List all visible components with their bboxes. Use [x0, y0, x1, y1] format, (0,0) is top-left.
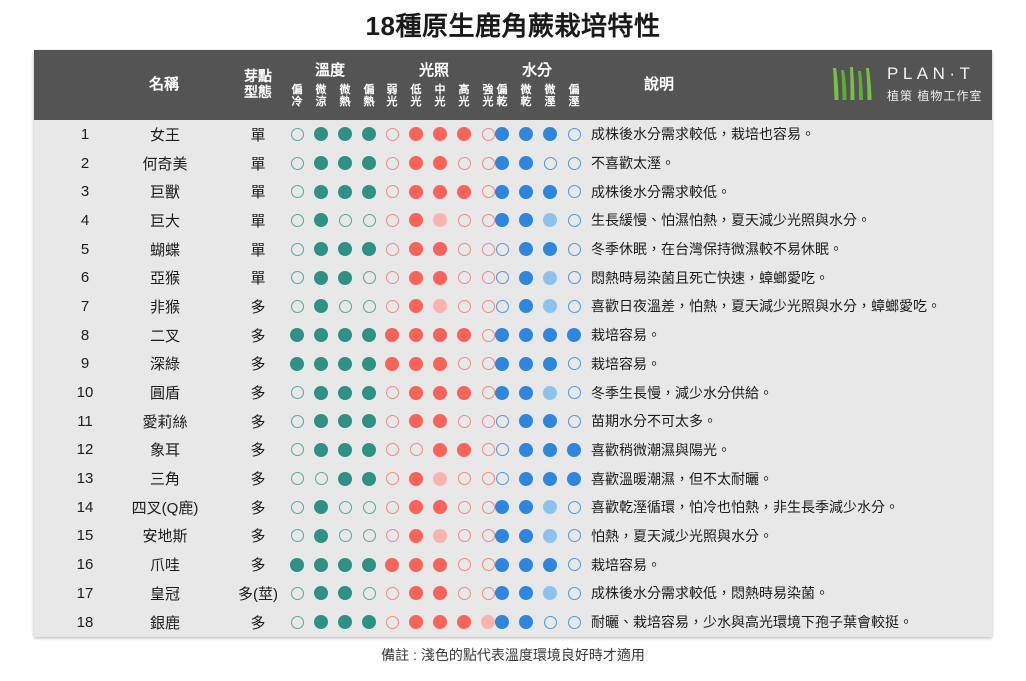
row-name: 巨大: [106, 206, 224, 235]
dot-slot-light-0: [380, 529, 404, 542]
dot-temp-full: [314, 156, 328, 170]
dot-slot-temp-3: [357, 242, 381, 256]
dot-light-empty: [410, 443, 423, 456]
sublabel-line-1: 中: [428, 85, 452, 97]
dot-water-full: [519, 299, 533, 313]
row-name: 蝴蝶: [106, 235, 224, 264]
dot-light-pale: [433, 472, 447, 486]
dot-temp-full: [362, 357, 376, 371]
dot-slot-water-0: [490, 586, 514, 600]
dot-slot-temp-3: [357, 328, 381, 342]
row-bud-type: 單: [226, 235, 290, 264]
dot-slot-light-1: [404, 386, 428, 400]
row-index: 2: [70, 149, 100, 178]
dot-slot-water-3: [562, 415, 586, 428]
dot-slot-light-3: [452, 185, 476, 199]
dot-slot-light-0: [380, 558, 404, 572]
dot-slot-light-0: [380, 443, 404, 456]
dot-slot-light-2: [428, 357, 452, 371]
dot-temp-empty: [315, 472, 328, 485]
dot-group-temp: [285, 120, 381, 149]
dot-water-full: [495, 156, 509, 170]
dot-slot-water-1: [514, 529, 538, 543]
sublabels-light: 弱光低光中光高光強光: [380, 85, 500, 108]
dot-slot-water-1: [514, 299, 538, 313]
dot-slot-temp-0: [285, 501, 309, 514]
row-bud-type: 多(莖): [226, 579, 290, 608]
dot-water-pale: [543, 529, 557, 543]
dot-slot-light-1: [404, 443, 428, 456]
dot-slot-temp-1: [309, 328, 333, 342]
row-description: 悶熱時易染菌且死亡快速，蟑螂愛吃。: [591, 263, 991, 292]
row-description: 成株後水分需求較低。: [591, 177, 991, 206]
dot-temp-empty: [291, 443, 304, 456]
dot-slot-temp-2: [333, 414, 357, 428]
dot-slot-water-3: [562, 214, 586, 227]
dot-water-empty: [568, 558, 581, 571]
dot-group-temp: [285, 263, 381, 292]
dot-slot-water-1: [514, 185, 538, 199]
column-header-description: 說明: [594, 76, 724, 93]
dot-water-full: [543, 127, 557, 141]
dot-slot-water-2: [538, 443, 562, 457]
table-row: 18銀鹿多耐曬、栽培容易，少水與高光環境下孢子葉會較挺。: [34, 608, 992, 637]
row-description: 冬季休眠，在台灣保持微濕較不易休眠。: [591, 235, 991, 264]
dot-water-empty: [568, 185, 581, 198]
dot-water-pale: [543, 386, 557, 400]
dot-light-full: [433, 271, 447, 285]
dot-slot-temp-3: [357, 156, 381, 170]
dot-slot-light-2: [428, 414, 452, 428]
row-description: 栽培容易。: [591, 321, 991, 350]
dot-temp-empty: [291, 616, 304, 629]
dot-slot-temp-2: [333, 529, 357, 542]
dot-slot-temp-1: [309, 500, 333, 514]
row-index: 13: [70, 464, 100, 493]
row-index: 17: [70, 579, 100, 608]
dot-temp-full: [314, 271, 328, 285]
row-index: 15: [70, 522, 100, 551]
dot-temp-empty: [291, 587, 304, 600]
dot-temp-full: [314, 414, 328, 428]
dot-light-full: [457, 443, 471, 457]
dot-temp-full: [314, 558, 328, 572]
dot-light-full: [457, 386, 471, 400]
dot-group-water: [490, 493, 586, 522]
dot-temp-full: [338, 472, 352, 486]
dot-water-empty: [568, 300, 581, 313]
dot-water-full: [519, 414, 533, 428]
dot-light-empty: [458, 243, 471, 256]
row-bud-type: 多: [226, 350, 290, 379]
dot-slot-temp-0: [285, 357, 309, 371]
dot-light-full: [433, 242, 447, 256]
table-row: 13三角多喜歡溫暖潮濕，但不太耐曬。: [34, 464, 992, 493]
dot-light-empty: [458, 415, 471, 428]
dot-slot-water-1: [514, 156, 538, 170]
dot-group-temp: [285, 579, 381, 608]
dot-group-water: [490, 263, 586, 292]
dot-slot-water-2: [538, 616, 562, 629]
dot-slot-water-1: [514, 586, 538, 600]
dot-temp-full: [338, 127, 352, 141]
dot-water-full: [543, 357, 557, 371]
dot-water-full: [567, 328, 581, 342]
dot-temp-empty: [363, 587, 376, 600]
dot-slot-light-0: [380, 472, 404, 485]
dot-light-full: [409, 242, 423, 256]
dot-slot-water-2: [538, 529, 562, 543]
sublabels-temperature: 偏冷微涼微熱偏熱: [285, 85, 381, 108]
dot-slot-water-1: [514, 357, 538, 371]
dot-group-temp: [285, 522, 381, 551]
dot-light-full: [433, 357, 447, 371]
dot-slot-light-3: [452, 127, 476, 141]
dot-group-water: [490, 120, 586, 149]
dot-light-full: [409, 299, 423, 313]
dot-slot-temp-1: [309, 472, 333, 485]
dot-group-light: [380, 579, 500, 608]
dot-slot-water-0: [490, 328, 514, 342]
table-row: 2何奇美單不喜歡太溼。: [34, 149, 992, 178]
dot-water-full: [567, 443, 581, 457]
dot-water-empty: [544, 157, 557, 170]
row-index: 12: [70, 436, 100, 465]
dot-water-full: [495, 213, 509, 227]
dot-temp-full: [314, 127, 328, 141]
dot-water-full: [495, 615, 509, 629]
sublabel-line-2: 熱: [333, 97, 357, 109]
dot-temp-empty: [291, 157, 304, 170]
dot-light-full: [433, 414, 447, 428]
dot-water-full: [543, 414, 557, 428]
dot-slot-light-1: [404, 558, 428, 572]
sublabel-temperature-3: 偏熱: [357, 85, 381, 108]
dot-light-full: [385, 357, 399, 371]
dot-slot-temp-3: [357, 558, 381, 572]
dot-slot-temp-0: [285, 558, 309, 572]
dot-water-empty: [568, 386, 581, 399]
brand-name: PLAN·T: [887, 64, 982, 84]
dot-water-full: [495, 185, 509, 199]
sublabel-line-2: 光: [428, 97, 452, 109]
dot-slot-light-2: [428, 443, 452, 457]
dot-slot-light-3: [452, 558, 476, 571]
dot-slot-water-0: [490, 558, 514, 572]
dot-group-water: [490, 378, 586, 407]
row-index: 5: [70, 235, 100, 264]
dot-light-empty: [386, 185, 399, 198]
row-name: 二叉: [106, 321, 224, 350]
dot-temp-full: [314, 213, 328, 227]
dot-slot-temp-3: [357, 214, 381, 227]
dot-temp-full: [338, 443, 352, 457]
dot-slot-light-1: [404, 357, 428, 371]
dot-light-full: [385, 558, 399, 572]
dot-light-empty: [386, 443, 399, 456]
dot-slot-temp-1: [309, 185, 333, 199]
dot-group-water: [490, 321, 586, 350]
table-row: 3巨獸單成株後水分需求較低。: [34, 177, 992, 206]
dot-light-empty: [386, 587, 399, 600]
dot-light-empty: [386, 243, 399, 256]
row-name: 愛莉絲: [106, 407, 224, 436]
dot-slot-water-1: [514, 213, 538, 227]
dot-slot-water-2: [538, 386, 562, 400]
dot-temp-empty: [291, 472, 304, 485]
dot-slot-temp-3: [357, 615, 381, 629]
bud-type-line-1: 芽點: [227, 68, 289, 84]
row-name: 亞猴: [106, 263, 224, 292]
dot-slot-water-1: [514, 242, 538, 256]
dot-slot-light-2: [428, 529, 452, 543]
dot-temp-full: [314, 586, 328, 600]
dot-slot-light-1: [404, 242, 428, 256]
dot-group-temp: [285, 464, 381, 493]
dot-light-full: [409, 472, 423, 486]
row-bud-type: 多: [226, 522, 290, 551]
row-index: 9: [70, 350, 100, 379]
dot-water-full: [519, 615, 533, 629]
dot-slot-water-1: [514, 127, 538, 141]
dot-light-full: [409, 414, 423, 428]
dot-slot-light-1: [404, 299, 428, 313]
dot-light-full: [433, 185, 447, 199]
dot-slot-light-3: [452, 415, 476, 428]
dot-group-water: [490, 608, 586, 637]
dot-slot-light-3: [452, 157, 476, 170]
dot-slot-water-2: [538, 328, 562, 342]
dot-light-empty: [458, 501, 471, 514]
dot-slot-temp-3: [357, 271, 381, 284]
dot-slot-temp-2: [333, 242, 357, 256]
dot-light-empty: [386, 271, 399, 284]
row-description: 栽培容易。: [591, 350, 991, 379]
dot-light-empty: [458, 558, 471, 571]
sublabel-line-2: 乾: [490, 97, 514, 109]
dot-group-temp: [285, 321, 381, 350]
dot-light-full: [409, 558, 423, 572]
sublabel-line-1: 低: [404, 85, 428, 97]
dot-light-full: [433, 386, 447, 400]
row-index: 4: [70, 206, 100, 235]
dot-temp-full: [338, 558, 352, 572]
dot-slot-temp-3: [357, 443, 381, 457]
row-description: 生長緩慢、怕濕怕熱，夏天減少光照與水分。: [591, 206, 991, 235]
dot-light-full: [457, 185, 471, 199]
row-description: 不喜歡太溼。: [591, 149, 991, 178]
row-bud-type: 多: [226, 464, 290, 493]
dot-temp-full: [314, 386, 328, 400]
dot-light-pale: [433, 529, 447, 543]
dot-water-full: [519, 386, 533, 400]
dot-slot-water-1: [514, 386, 538, 400]
dot-slot-water-0: [490, 213, 514, 227]
dot-temp-full: [362, 414, 376, 428]
dot-slot-water-0: [490, 357, 514, 371]
dot-water-full: [519, 558, 533, 572]
dot-temp-full: [338, 615, 352, 629]
row-index: 6: [70, 263, 100, 292]
dot-temp-full: [338, 242, 352, 256]
dot-slot-water-2: [538, 299, 562, 313]
row-name: 深綠: [106, 350, 224, 379]
dot-light-empty: [386, 501, 399, 514]
dot-water-full: [519, 271, 533, 285]
dot-slot-light-2: [428, 615, 452, 629]
dot-group-light: [380, 321, 500, 350]
row-bud-type: 多: [226, 378, 290, 407]
row-bud-type: 單: [226, 149, 290, 178]
dot-slot-light-2: [428, 586, 452, 600]
dot-slot-temp-3: [357, 127, 381, 141]
dot-water-full: [519, 127, 533, 141]
row-index: 18: [70, 608, 100, 637]
dot-water-full: [519, 213, 533, 227]
dot-group-light: [380, 292, 500, 321]
dot-slot-temp-0: [285, 386, 309, 399]
dot-group-light: [380, 177, 500, 206]
dot-light-empty: [458, 157, 471, 170]
dot-slot-water-2: [538, 586, 562, 600]
dot-slot-water-0: [490, 500, 514, 514]
dot-light-full: [433, 127, 447, 141]
dot-light-full: [409, 271, 423, 285]
dot-temp-full: [362, 127, 376, 141]
dot-water-pale: [543, 500, 557, 514]
dot-slot-temp-0: [285, 328, 309, 342]
dot-group-light: [380, 378, 500, 407]
table-body: 1女王單成株後水分需求較低，栽培也容易。2何奇美單不喜歡太溼。3巨獸單成株後水分…: [34, 120, 992, 636]
dot-slot-light-0: [380, 357, 404, 371]
table-row: 6亞猴單悶熱時易染菌且死亡快速，蟑螂愛吃。: [34, 263, 992, 292]
bud-type-line-2: 型態: [227, 84, 289, 100]
dot-water-full: [495, 328, 509, 342]
dot-slot-temp-1: [309, 127, 333, 141]
dot-slot-light-2: [428, 558, 452, 572]
dot-slot-water-3: [562, 300, 586, 313]
dot-water-empty: [496, 243, 509, 256]
dot-slot-light-2: [428, 299, 452, 313]
dot-slot-light-0: [380, 214, 404, 227]
dot-group-light: [380, 493, 500, 522]
dot-temp-full: [362, 386, 376, 400]
row-bud-type: 單: [226, 263, 290, 292]
dot-light-empty: [458, 271, 471, 284]
dot-temp-full: [314, 357, 328, 371]
row-name: 圓盾: [106, 378, 224, 407]
dot-light-full: [433, 500, 447, 514]
dot-slot-light-3: [452, 243, 476, 256]
row-bud-type: 單: [226, 177, 290, 206]
row-name: 象耳: [106, 436, 224, 465]
dot-slot-light-2: [428, 127, 452, 141]
dot-temp-empty: [339, 529, 352, 542]
dot-slot-water-0: [490, 271, 514, 284]
dot-light-full: [409, 127, 423, 141]
row-name: 四叉(Q鹿): [106, 493, 224, 522]
row-description: 喜歡乾溼循環，怕冷也怕熱，非生長季減少水分。: [591, 493, 991, 522]
dot-group-water: [490, 550, 586, 579]
dot-light-pale: [433, 213, 447, 227]
dot-slot-temp-2: [333, 271, 357, 285]
dot-slot-temp-1: [309, 357, 333, 371]
plant-brush-logo-icon: [829, 64, 875, 104]
dot-slot-light-0: [380, 415, 404, 428]
dot-light-full: [385, 328, 399, 342]
dot-light-empty: [386, 386, 399, 399]
dot-slot-temp-2: [333, 558, 357, 572]
table-row: 8二叉多栽培容易。: [34, 321, 992, 350]
dot-slot-light-3: [452, 386, 476, 400]
dot-light-empty: [458, 529, 471, 542]
sublabel-line-2: 溼: [562, 97, 586, 109]
brand-logo: PLAN·T 植策 植物工作室: [829, 64, 982, 104]
dot-light-full: [409, 328, 423, 342]
dot-slot-light-3: [452, 587, 476, 600]
table-row: 4巨大單生長緩慢、怕濕怕熱，夏天減少光照與水分。: [34, 206, 992, 235]
dot-temp-empty: [291, 128, 304, 141]
dot-temp-empty: [363, 214, 376, 227]
dot-temp-empty: [339, 501, 352, 514]
dot-light-empty: [386, 616, 399, 629]
row-name: 皇冠: [106, 579, 224, 608]
group-header-light: 光照: [379, 59, 489, 80]
dot-water-full: [495, 386, 509, 400]
dot-temp-empty: [363, 300, 376, 313]
dot-temp-full: [290, 357, 304, 371]
dot-light-empty: [386, 529, 399, 542]
row-description: 栽培容易。: [591, 550, 991, 579]
dot-light-empty: [386, 214, 399, 227]
dot-light-pale: [433, 299, 447, 313]
dot-light-empty: [386, 415, 399, 428]
dot-water-empty: [568, 128, 581, 141]
dot-slot-light-2: [428, 500, 452, 514]
dot-water-empty: [568, 157, 581, 170]
sublabel-water-0: 偏乾: [490, 85, 514, 108]
dot-group-temp: [285, 149, 381, 178]
dot-slot-temp-0: [285, 587, 309, 600]
dot-temp-full: [338, 386, 352, 400]
dot-slot-temp-0: [285, 185, 309, 198]
dot-water-empty: [568, 214, 581, 227]
dot-slot-temp-1: [309, 299, 333, 313]
row-bud-type: 多: [226, 436, 290, 465]
row-description: 喜歡溫暖潮濕，但不太耐曬。: [591, 464, 991, 493]
dot-slot-temp-2: [333, 501, 357, 514]
dot-light-empty: [458, 357, 471, 370]
dot-slot-light-0: [380, 300, 404, 313]
dot-water-full: [519, 185, 533, 199]
dot-temp-full: [314, 500, 328, 514]
row-index: 11: [70, 407, 100, 436]
dot-slot-temp-0: [285, 443, 309, 456]
dot-slot-light-3: [452, 271, 476, 284]
dot-slot-light-1: [404, 414, 428, 428]
row-name: 三角: [106, 464, 224, 493]
dot-slot-water-0: [490, 156, 514, 170]
row-bud-type: 多: [226, 292, 290, 321]
dot-group-temp: [285, 493, 381, 522]
dot-slot-water-0: [490, 185, 514, 199]
sublabel-line-1: 弱: [380, 85, 404, 97]
dot-temp-empty: [339, 300, 352, 313]
dot-slot-water-2: [538, 127, 562, 141]
dot-temp-full: [338, 414, 352, 428]
dot-slot-light-3: [452, 472, 476, 485]
dot-slot-water-3: [562, 386, 586, 399]
